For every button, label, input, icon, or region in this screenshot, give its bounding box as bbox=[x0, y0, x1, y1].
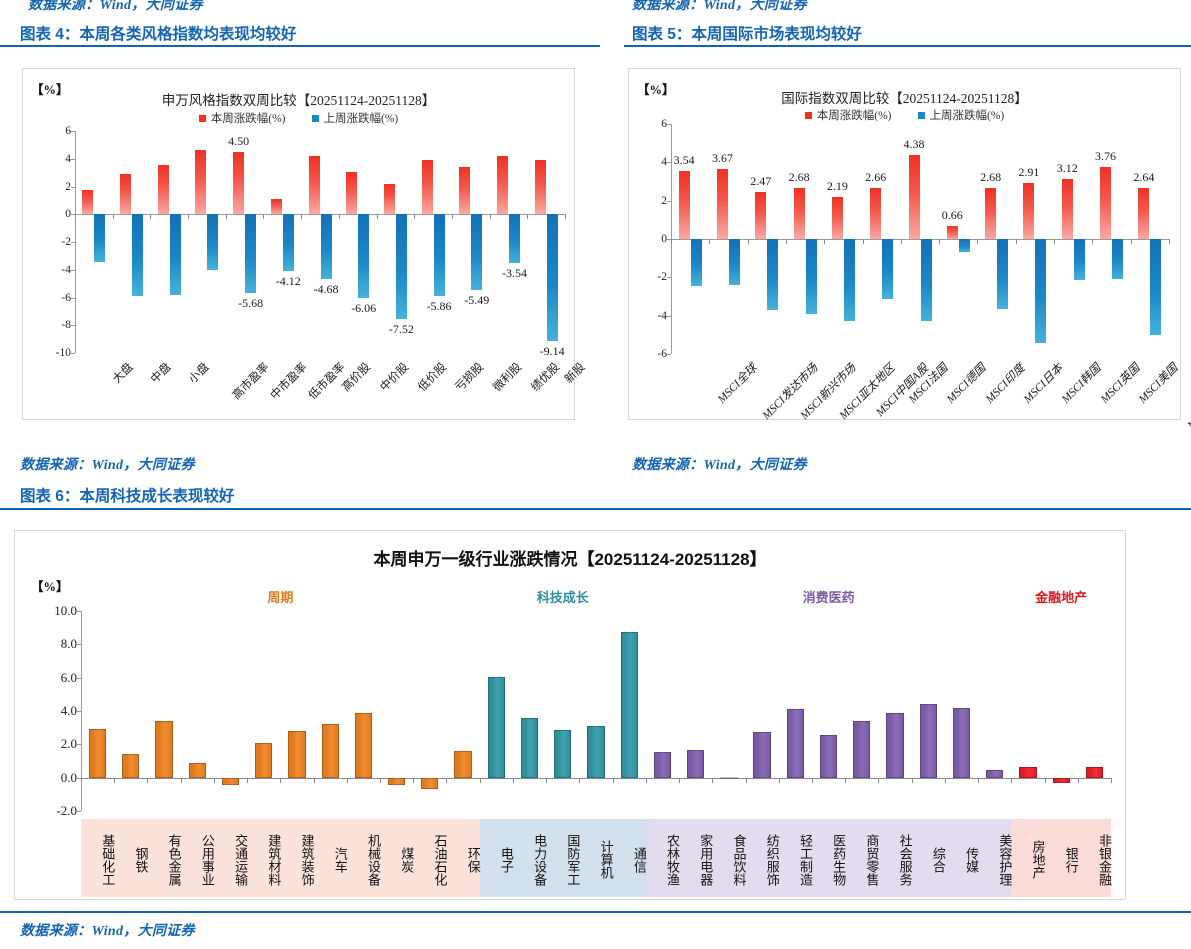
bar bbox=[454, 751, 471, 777]
bar-last-week bbox=[729, 239, 740, 285]
category-label: 房地产 bbox=[1011, 819, 1044, 897]
data-label: 3.12 bbox=[1057, 161, 1078, 176]
legend-swatch-red bbox=[805, 112, 812, 119]
divider-fig6 bbox=[0, 508, 1191, 510]
x-tick-mark bbox=[263, 214, 264, 219]
data-label: 2.19 bbox=[827, 179, 848, 194]
bar-this-week bbox=[679, 171, 690, 239]
x-tick-mark bbox=[671, 239, 672, 244]
x-axis-label: 中市盈率 bbox=[266, 359, 310, 403]
source-note-fig6: 数据来源：Wind，大同证券 bbox=[20, 920, 195, 940]
chart3-group-labels: 周期科技成长消费医药金融地产 bbox=[15, 587, 1125, 605]
y-tick-label: 8.0 bbox=[61, 636, 77, 652]
bar bbox=[521, 718, 538, 778]
x-tick-mark bbox=[150, 214, 151, 219]
x-tick-mark bbox=[977, 239, 978, 244]
x-tick-mark bbox=[978, 778, 979, 783]
y-tick-label: 2.0 bbox=[61, 736, 77, 752]
bar-last-week bbox=[844, 239, 855, 321]
data-label: 2.91 bbox=[1018, 165, 1039, 180]
bar-last-week bbox=[170, 214, 181, 295]
source-note-top-right: 数据来源：Wind，大同证券 bbox=[632, 0, 807, 14]
x-tick-mark bbox=[214, 778, 215, 783]
bar-last-week bbox=[1150, 239, 1161, 335]
source-note-fig5: 数据来源：Wind，大同证券 bbox=[632, 454, 807, 474]
legend-label-last-week: 上周涨跌幅(%) bbox=[930, 107, 1005, 123]
data-label: 0.66 bbox=[942, 208, 963, 223]
legend-label-this-week: 本周涨跌幅(%) bbox=[817, 107, 892, 123]
bar-this-week bbox=[1023, 183, 1034, 239]
bar-last-week bbox=[94, 214, 105, 262]
legend-item-this-week: 本周涨跌幅(%) bbox=[805, 107, 892, 123]
x-axis-label: MSCI印度 bbox=[981, 360, 1028, 407]
bar-this-week bbox=[870, 188, 881, 239]
x-axis-label: 中盘 bbox=[147, 359, 175, 387]
bar bbox=[388, 778, 405, 786]
category-label: 美容护理 bbox=[978, 819, 1011, 897]
x-tick-mark bbox=[226, 214, 227, 219]
category-label: 煤炭 bbox=[380, 819, 413, 897]
x-tick-mark bbox=[863, 239, 864, 244]
x-axis-label: MSCI日本 bbox=[1020, 360, 1067, 407]
bar-this-week bbox=[82, 190, 93, 214]
bar-this-week bbox=[947, 226, 958, 239]
bar bbox=[288, 731, 305, 778]
bar-this-week bbox=[158, 165, 169, 214]
bar-last-week bbox=[959, 239, 970, 252]
y-tick-mark bbox=[667, 162, 671, 163]
y-tick-label: -2 bbox=[657, 271, 667, 283]
data-label: 2.68 bbox=[980, 170, 1001, 185]
bar-last-week bbox=[207, 214, 218, 270]
category-label: 社会服务 bbox=[878, 819, 911, 897]
x-tick-mark bbox=[147, 778, 148, 783]
y-tick-mark bbox=[71, 298, 75, 299]
y-tick-label: -6 bbox=[657, 348, 667, 360]
bar-this-week bbox=[384, 184, 395, 215]
bar bbox=[89, 729, 106, 778]
y-tick-mark bbox=[77, 744, 81, 745]
bar-last-week bbox=[997, 239, 1008, 309]
category-label: 综合 bbox=[912, 819, 945, 897]
bar bbox=[222, 778, 239, 786]
legend-label-last-week: 上周涨跌幅(%) bbox=[324, 110, 399, 126]
x-tick-mark bbox=[679, 778, 680, 783]
y-tick-mark bbox=[77, 644, 81, 645]
chart-international-index: 【%】 国际指数双周比较【20251124-20251128】 本周涨跌幅(%)… bbox=[628, 68, 1181, 420]
bar-this-week bbox=[1062, 179, 1073, 239]
x-tick-mark bbox=[613, 778, 614, 783]
data-label: -3.54 bbox=[502, 266, 527, 281]
x-tick-mark bbox=[912, 778, 913, 783]
bar bbox=[421, 778, 438, 790]
group-label: 周期 bbox=[267, 587, 293, 606]
data-label: 2.64 bbox=[1133, 170, 1154, 185]
figure-title-5: 图表 5：本周国际市场表现均较好 bbox=[632, 22, 862, 44]
bar-this-week bbox=[909, 155, 920, 239]
x-axis-label: MSCI德国 bbox=[943, 360, 990, 407]
chart1-plot-area: 6420-2-4-6-8-104.50-5.68-4.12-4.68-6.06-… bbox=[75, 131, 565, 353]
x-tick-mark bbox=[1078, 778, 1079, 783]
divider-fig4 bbox=[0, 45, 600, 47]
group-label: 消费医药 bbox=[803, 587, 855, 606]
bar bbox=[587, 726, 604, 777]
y-tick-label: -4 bbox=[61, 264, 71, 276]
x-tick-mark bbox=[280, 778, 281, 783]
x-tick-mark bbox=[480, 778, 481, 783]
bar-this-week bbox=[755, 192, 766, 239]
x-tick-mark bbox=[1016, 239, 1017, 244]
bar-this-week bbox=[832, 197, 843, 239]
legend-swatch-blue bbox=[918, 112, 925, 119]
category-label: 机械设备 bbox=[347, 819, 380, 897]
bar bbox=[122, 754, 139, 777]
x-tick-mark bbox=[1169, 239, 1170, 244]
figure-title-4: 图表 4：本周各类风格指数均表现均较好 bbox=[20, 22, 296, 44]
bar bbox=[753, 732, 770, 777]
data-label: 2.66 bbox=[865, 170, 886, 185]
data-label: -4.12 bbox=[276, 274, 301, 289]
y-tick-mark bbox=[71, 159, 75, 160]
bar-last-week bbox=[132, 214, 143, 296]
bar bbox=[322, 724, 339, 778]
y-tick-mark bbox=[71, 270, 75, 271]
bar-last-week bbox=[509, 214, 520, 263]
data-label: 2.47 bbox=[750, 174, 771, 189]
x-tick-mark bbox=[301, 214, 302, 219]
x-tick-mark bbox=[413, 778, 414, 783]
x-axis-label: 低价股 bbox=[414, 359, 450, 395]
bar bbox=[687, 750, 704, 778]
data-label: -5.49 bbox=[464, 293, 489, 308]
category-label: 电力设备 bbox=[513, 819, 546, 897]
bar-last-week bbox=[434, 214, 445, 295]
category-label: 建筑装饰 bbox=[280, 819, 313, 897]
y-tick-label: 0.0 bbox=[61, 770, 77, 786]
y-axis bbox=[81, 611, 82, 811]
x-tick-mark bbox=[709, 239, 710, 244]
chart2-legend: 本周涨跌幅(%) 上周涨跌幅(%) bbox=[629, 107, 1180, 123]
figure-title-6: 图表 6：本周科技成长表现较好 bbox=[20, 484, 234, 506]
data-label: -9.14 bbox=[540, 344, 565, 359]
x-tick-mark bbox=[786, 239, 787, 244]
y-tick-mark bbox=[71, 187, 75, 188]
bar bbox=[820, 735, 837, 778]
legend-swatch-blue bbox=[312, 115, 319, 122]
x-axis-label: 中价股 bbox=[376, 359, 412, 395]
data-label: 3.67 bbox=[712, 151, 733, 166]
x-axis-label: MSCI香港 (Local) bbox=[1184, 360, 1191, 433]
category-label: 计算机 bbox=[579, 819, 612, 897]
data-label: -7.52 bbox=[389, 322, 414, 337]
x-tick-mark bbox=[1131, 239, 1132, 244]
y-tick-mark bbox=[667, 316, 671, 317]
bar-this-week bbox=[717, 169, 728, 239]
bar bbox=[920, 704, 937, 778]
bar bbox=[1053, 778, 1070, 784]
x-tick-mark bbox=[939, 239, 940, 244]
x-tick-mark bbox=[377, 214, 378, 219]
y-tick-label: 6.0 bbox=[61, 670, 77, 686]
category-label: 商贸零售 bbox=[845, 819, 878, 897]
x-tick-mark bbox=[779, 778, 780, 783]
data-label: -6.06 bbox=[351, 301, 376, 316]
x-tick-mark bbox=[446, 778, 447, 783]
y-tick-mark bbox=[77, 711, 81, 712]
bar bbox=[886, 713, 903, 778]
bar-this-week bbox=[195, 150, 206, 214]
x-tick-mark bbox=[579, 778, 580, 783]
divider-fig5 bbox=[624, 45, 1191, 47]
legend-item-last-week: 上周涨跌幅(%) bbox=[312, 110, 399, 126]
legend-label-this-week: 本周涨跌幅(%) bbox=[211, 110, 286, 126]
x-tick-mark bbox=[347, 778, 348, 783]
y-tick-label: 4.0 bbox=[61, 703, 77, 719]
source-note-fig4: 数据来源：Wind，大同证券 bbox=[20, 454, 195, 474]
bar-this-week bbox=[422, 160, 433, 214]
bar-last-week bbox=[921, 239, 932, 321]
x-tick-mark bbox=[565, 214, 566, 219]
bar bbox=[621, 632, 638, 778]
chart3-category-axis: 基础化工钢铁有色金属公用事业交通运输建筑材料建筑装饰汽车机械设备煤炭石油石化环保… bbox=[81, 819, 1111, 897]
x-axis-label: 新股 bbox=[561, 359, 589, 387]
x-tick-mark bbox=[1054, 239, 1055, 244]
bar-this-week bbox=[794, 188, 805, 239]
bar-last-week bbox=[1074, 239, 1085, 280]
x-tick-mark bbox=[901, 239, 902, 244]
y-axis bbox=[75, 131, 76, 353]
x-tick-mark bbox=[812, 778, 813, 783]
y-tick-mark bbox=[77, 778, 81, 779]
x-tick-mark bbox=[452, 214, 453, 219]
bar-last-week bbox=[1035, 239, 1046, 343]
category-label: 通信 bbox=[613, 819, 646, 897]
x-axis-label: MSCI英国 bbox=[1096, 360, 1143, 407]
x-axis-label: 绩优股 bbox=[527, 359, 563, 395]
x-tick-mark bbox=[75, 214, 76, 219]
bar-this-week bbox=[120, 174, 131, 215]
category-label: 银行 bbox=[1045, 819, 1078, 897]
chart2-title: 国际指数双周比较【20251124-20251128】 bbox=[629, 87, 1180, 107]
category-label: 非银金融 bbox=[1078, 819, 1111, 897]
data-label: 4.50 bbox=[228, 134, 249, 149]
category-label: 有色金属 bbox=[147, 819, 180, 897]
bar bbox=[953, 708, 970, 778]
y-tick-mark bbox=[71, 353, 75, 354]
bar-this-week bbox=[497, 156, 508, 214]
category-label: 汽车 bbox=[314, 819, 347, 897]
category-label: 纺织服饰 bbox=[746, 819, 779, 897]
y-tick-label: -6 bbox=[61, 292, 71, 304]
x-tick-mark bbox=[1111, 778, 1112, 783]
y-tick-label: -2.0 bbox=[56, 803, 77, 819]
bar-last-week bbox=[767, 239, 778, 310]
x-axis-label: 高市盈率 bbox=[229, 359, 273, 403]
data-label: 4.38 bbox=[904, 137, 925, 152]
x-tick-mark bbox=[746, 778, 747, 783]
bar-this-week bbox=[309, 156, 320, 214]
x-axis-label: 微利股 bbox=[489, 359, 525, 395]
bar-last-week bbox=[547, 214, 558, 341]
bar bbox=[654, 752, 671, 777]
x-axis-label: 高价股 bbox=[338, 359, 374, 395]
bar bbox=[155, 721, 172, 777]
data-label: -5.68 bbox=[238, 296, 263, 311]
category-label: 钢铁 bbox=[114, 819, 147, 897]
bar bbox=[853, 721, 870, 778]
bar bbox=[986, 770, 1003, 778]
category-label: 食品饮料 bbox=[712, 819, 745, 897]
y-tick-mark bbox=[667, 124, 671, 125]
x-tick-mark bbox=[188, 214, 189, 219]
bar-last-week bbox=[245, 214, 256, 293]
bar-this-week bbox=[1138, 188, 1149, 239]
category-label: 公用事业 bbox=[181, 819, 214, 897]
category-label: 电子 bbox=[480, 819, 513, 897]
data-label: 2.68 bbox=[789, 170, 810, 185]
legend-item-this-week: 本周涨跌幅(%) bbox=[199, 110, 286, 126]
data-label: 3.54 bbox=[674, 153, 695, 168]
bar-this-week bbox=[271, 199, 282, 214]
category-label: 石油石化 bbox=[413, 819, 446, 897]
bar-last-week bbox=[283, 214, 294, 271]
x-tick-mark bbox=[247, 778, 248, 783]
x-tick-mark bbox=[712, 778, 713, 783]
x-axis-label: 大盘 bbox=[109, 359, 137, 387]
bar-last-week bbox=[396, 214, 407, 318]
bar-last-week bbox=[691, 239, 702, 286]
group-label: 科技成长 bbox=[537, 587, 589, 606]
bar-last-week bbox=[806, 239, 817, 314]
x-tick-mark bbox=[314, 778, 315, 783]
bar-last-week bbox=[1112, 239, 1123, 279]
x-axis-label: MSCI美国 bbox=[1135, 360, 1182, 407]
category-label: 农林牧渔 bbox=[646, 819, 679, 897]
chart2-plot-area: 6420-2-4-63.543.672.472.682.192.664.380.… bbox=[671, 124, 1169, 354]
bar-this-week bbox=[535, 160, 546, 214]
y-tick-mark bbox=[77, 811, 81, 812]
bar-last-week bbox=[882, 239, 893, 299]
x-tick-mark bbox=[646, 778, 647, 783]
bar bbox=[720, 777, 737, 779]
x-tick-mark bbox=[546, 778, 547, 783]
x-axis-label: MSCI全球 bbox=[713, 360, 760, 407]
chart1-legend: 本周涨跌幅(%) 上周涨跌幅(%) bbox=[23, 110, 574, 126]
x-tick-mark bbox=[824, 239, 825, 244]
x-tick-mark bbox=[181, 778, 182, 783]
x-tick-mark bbox=[414, 214, 415, 219]
x-tick-mark bbox=[113, 214, 114, 219]
category-label: 医药生物 bbox=[812, 819, 845, 897]
y-tick-mark bbox=[77, 611, 81, 612]
x-tick-mark bbox=[1011, 778, 1012, 783]
chart-style-index: 【%】 申万风格指数双周比较【20251124-20251128】 本周涨跌幅(… bbox=[22, 68, 575, 420]
legend-item-last-week: 上周涨跌幅(%) bbox=[918, 107, 1005, 123]
bar-last-week bbox=[321, 214, 332, 279]
x-tick-mark bbox=[845, 778, 846, 783]
chart3-title: 本周申万一级行业涨跌情况【20251124-20251128】 bbox=[15, 545, 1125, 570]
legend-swatch-red bbox=[199, 115, 206, 122]
x-tick-mark bbox=[1092, 239, 1093, 244]
x-tick-mark bbox=[1045, 778, 1046, 783]
x-tick-mark bbox=[490, 214, 491, 219]
category-label: 交通运输 bbox=[214, 819, 247, 897]
y-tick-mark bbox=[667, 201, 671, 202]
y-tick-mark bbox=[667, 354, 671, 355]
bar-this-week bbox=[233, 152, 244, 214]
bar bbox=[554, 730, 571, 778]
bar bbox=[189, 763, 206, 778]
x-tick-mark bbox=[380, 778, 381, 783]
bar bbox=[1019, 767, 1036, 778]
y-tick-mark bbox=[77, 678, 81, 679]
x-tick-mark bbox=[878, 778, 879, 783]
category-label: 轻工制造 bbox=[779, 819, 812, 897]
bar-this-week bbox=[985, 188, 996, 239]
bar-this-week bbox=[346, 172, 357, 214]
y-tick-label: -4 bbox=[657, 310, 667, 322]
x-tick-mark bbox=[513, 778, 514, 783]
source-note-top-left: 数据来源：Wind，大同证券 bbox=[28, 0, 203, 14]
category-label: 传媒 bbox=[945, 819, 978, 897]
group-label: 金融地产 bbox=[1035, 587, 1087, 606]
data-label: -4.68 bbox=[314, 282, 339, 297]
chart-sw-industry: 本周申万一级行业涨跌情况【20251124-20251128】 【%】 周期科技… bbox=[14, 530, 1126, 900]
y-tick-label: -10 bbox=[56, 347, 71, 359]
y-tick-mark bbox=[71, 131, 75, 132]
category-label: 建筑材料 bbox=[247, 819, 280, 897]
x-axis-label: 亏损股 bbox=[451, 359, 487, 395]
bar bbox=[488, 677, 505, 778]
bar-this-week bbox=[459, 167, 470, 214]
bar-last-week bbox=[358, 214, 369, 298]
x-axis-label: 小盘 bbox=[184, 359, 212, 387]
y-tick-label: -2 bbox=[61, 236, 71, 248]
x-axis-label: MSCI韩国 bbox=[1058, 360, 1105, 407]
x-tick-mark bbox=[114, 778, 115, 783]
bar bbox=[787, 709, 804, 778]
chart1-title: 申万风格指数双周比较【20251124-20251128】 bbox=[23, 89, 574, 109]
chart3-plot-area: 10.08.06.04.02.00.0-2.0 bbox=[81, 611, 1111, 811]
y-tick-label: 10.0 bbox=[54, 603, 77, 619]
report-page: 数据来源：Wind，大同证券 数据来源：Wind，大同证券 图表 4：本周各类风… bbox=[0, 0, 1191, 949]
bar bbox=[255, 743, 272, 778]
category-label: 环保 bbox=[446, 819, 479, 897]
y-tick-mark bbox=[71, 325, 75, 326]
x-tick-mark bbox=[339, 214, 340, 219]
bar bbox=[1086, 767, 1103, 777]
data-label: 3.76 bbox=[1095, 149, 1116, 164]
x-tick-mark bbox=[748, 239, 749, 244]
category-label: 国防军工 bbox=[546, 819, 579, 897]
data-label: -5.86 bbox=[427, 299, 452, 314]
x-tick-mark bbox=[527, 214, 528, 219]
category-label: 基础化工 bbox=[81, 819, 114, 897]
y-tick-label: -8 bbox=[61, 319, 71, 331]
category-label: 家用电器 bbox=[679, 819, 712, 897]
divider-bottom bbox=[0, 911, 1191, 913]
x-tick-mark bbox=[945, 778, 946, 783]
bar bbox=[355, 713, 372, 778]
y-tick-mark bbox=[667, 277, 671, 278]
bar-this-week bbox=[1100, 167, 1111, 239]
y-tick-mark bbox=[71, 242, 75, 243]
bar-last-week bbox=[471, 214, 482, 290]
